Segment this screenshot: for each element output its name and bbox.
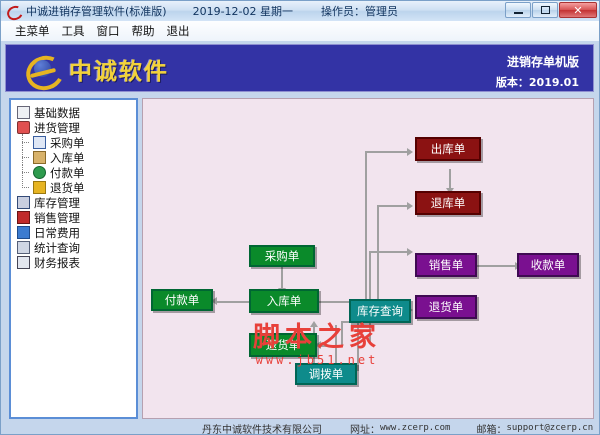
workflow-diagram: 采购单 付款单 入库单 退货单 库存查询 调拨单 出库单 退库单 销售单 收款单… <box>142 98 594 419</box>
report-icon <box>17 256 30 269</box>
application-window: 中诚进销存管理软件(标准版) 2019-12-02 星期一 操作员：管理员 ✕ … <box>0 0 600 435</box>
minimize-icon <box>514 12 523 14</box>
email-value[interactable]: support@zcerp.cn <box>506 423 593 433</box>
sidebar-item-label: 销售管理 <box>34 210 80 226</box>
flow-node-purchase-order[interactable]: 采购单 <box>249 245 315 267</box>
sidebar-item-label: 统计查询 <box>34 240 80 256</box>
sidebar-item-purchase-order[interactable]: 采购单 <box>17 135 136 150</box>
menu-item-help[interactable]: 帮助 <box>126 22 161 40</box>
swoosh-e-icon <box>26 54 60 84</box>
chart-icon <box>17 241 30 254</box>
maximize-icon <box>541 6 550 14</box>
plug-icon <box>17 121 30 134</box>
menu-item-window[interactable]: 窗口 <box>91 22 126 40</box>
footer-bar: 丹东中诚软件技术有限公司 网址： www.zcerp.com 邮箱： suppo… <box>142 422 594 434</box>
flow-node-sales-return-order[interactable]: 退货单 <box>415 295 477 319</box>
connector-sales-to-receipt <box>475 265 517 267</box>
arrowhead-icon <box>310 321 318 327</box>
sidebar-item-label: 进货管理 <box>34 120 80 136</box>
menu-bar: 主菜单 工具 窗口 帮助 退出 <box>0 21 600 41</box>
sidebar-item-sales-management[interactable]: 销售管理 <box>17 210 136 225</box>
sidebar-item-label: 付款单 <box>50 165 85 181</box>
document-icon <box>17 106 30 119</box>
connector-inventory-to-returnout-h2 <box>319 345 343 347</box>
connector-inventory-to-returnout-v <box>341 321 343 347</box>
sidebar-item-basic-data[interactable]: 基础数据 <box>17 105 136 120</box>
app-banner: 中诚软件 进销存单机版 版本：2019.01 <box>5 44 594 92</box>
arrowhead-icon <box>407 148 413 156</box>
sale-icon <box>17 211 30 224</box>
window-controls: ✕ <box>504 2 597 18</box>
client-area: 中诚软件 进销存单机版 版本：2019.01 基础数据 进货管理 <box>0 41 600 435</box>
arrowhead-icon <box>407 248 413 256</box>
sidebar-item-label: 库存管理 <box>34 195 80 211</box>
website-label: 网址： <box>350 421 380 435</box>
sidebar-item-label: 日常费用 <box>34 225 80 241</box>
sidebar-item-financial-report[interactable]: 财务报表 <box>17 255 136 270</box>
sidebar-item-payment-order[interactable]: 付款单 <box>17 165 136 180</box>
close-icon: ✕ <box>573 5 582 16</box>
sidebar-item-purchase-management[interactable]: 进货管理 <box>17 120 136 135</box>
connector-inventory-to-sales-h <box>369 251 409 253</box>
flow-node-transfer-order[interactable]: 调拨单 <box>295 363 357 385</box>
title-bar: 中诚进销存管理软件(标准版) 2019-12-02 星期一 操作员：管理员 ✕ <box>0 0 600 21</box>
operator-label: 操作员：管理员 <box>321 3 398 19</box>
maximize-button[interactable] <box>532 2 558 18</box>
window-title: 中诚进销存管理软件(标准版) <box>26 3 167 19</box>
sidebar-item-statistics-query[interactable]: 统计查询 <box>17 240 136 255</box>
app-logo-icon <box>6 4 22 18</box>
navigation-sidebar[interactable]: 基础数据 进货管理 采购单 入库单 付款单 <box>9 98 138 419</box>
bank-icon <box>17 196 30 209</box>
flow-node-receipt-order[interactable]: 收款单 <box>517 253 579 277</box>
current-date-label: 2019-12-02 星期一 <box>193 3 293 19</box>
menu-item-exit[interactable]: 退出 <box>161 22 196 40</box>
email-label: 邮箱： <box>476 421 506 435</box>
flow-node-payment-order[interactable]: 付款单 <box>151 289 213 311</box>
sidebar-item-label: 财务报表 <box>34 255 80 271</box>
version-label: 版本：2019.01 <box>496 74 579 90</box>
sidebar-item-daily-expense[interactable]: 日常费用 <box>17 225 136 240</box>
connector-inventory-to-stockout-h <box>365 151 409 153</box>
flow-node-return-in-order[interactable]: 退库单 <box>415 191 481 215</box>
sidebar-item-label: 基础数据 <box>34 105 80 121</box>
sidebar-item-stock-in-order[interactable]: 入库单 <box>17 150 136 165</box>
connector-inventory-to-returnin-v <box>377 205 379 309</box>
flow-node-inventory-query[interactable]: 库存查询 <box>349 299 411 323</box>
flow-node-stock-in-order[interactable]: 入库单 <box>249 289 319 313</box>
sidebar-item-inventory-management[interactable]: 库存管理 <box>17 195 136 210</box>
nav-tree: 基础数据 进货管理 采购单 入库单 付款单 <box>11 100 136 270</box>
edition-info: 进销存单机版 版本：2019.01 <box>496 53 579 90</box>
close-button[interactable]: ✕ <box>559 2 597 18</box>
cube-icon <box>33 181 46 194</box>
connector-inventory-to-stockout-v <box>365 151 367 309</box>
arrowhead-icon <box>407 202 413 210</box>
box-in-icon <box>33 151 46 164</box>
connector-inventory-to-returnin-h <box>377 205 409 207</box>
calendar-icon <box>17 226 30 239</box>
company-name: 丹东中诚软件技术有限公司 <box>202 421 322 435</box>
brand-name: 中诚软件 <box>69 52 169 86</box>
flow-node-stock-out-order[interactable]: 出库单 <box>415 137 481 161</box>
menu-item-tools[interactable]: 工具 <box>56 22 91 40</box>
website-value[interactable]: www.zcerp.com <box>380 423 450 433</box>
form-icon <box>33 136 46 149</box>
sidebar-item-label: 退货单 <box>50 180 85 196</box>
menu-item-main[interactable]: 主菜单 <box>9 22 56 40</box>
flow-node-sales-order[interactable]: 销售单 <box>415 253 477 277</box>
sidebar-item-label: 采购单 <box>50 135 85 151</box>
brand-logo: 中诚软件 <box>26 52 169 86</box>
edition-label: 进销存单机版 <box>496 53 579 70</box>
sidebar-item-return-order[interactable]: 退货单 <box>17 180 136 195</box>
flow-node-return-out-order[interactable]: 退货单 <box>249 333 317 357</box>
money-icon <box>33 166 46 179</box>
sidebar-item-label: 入库单 <box>50 150 85 166</box>
minimize-button[interactable] <box>505 2 531 18</box>
